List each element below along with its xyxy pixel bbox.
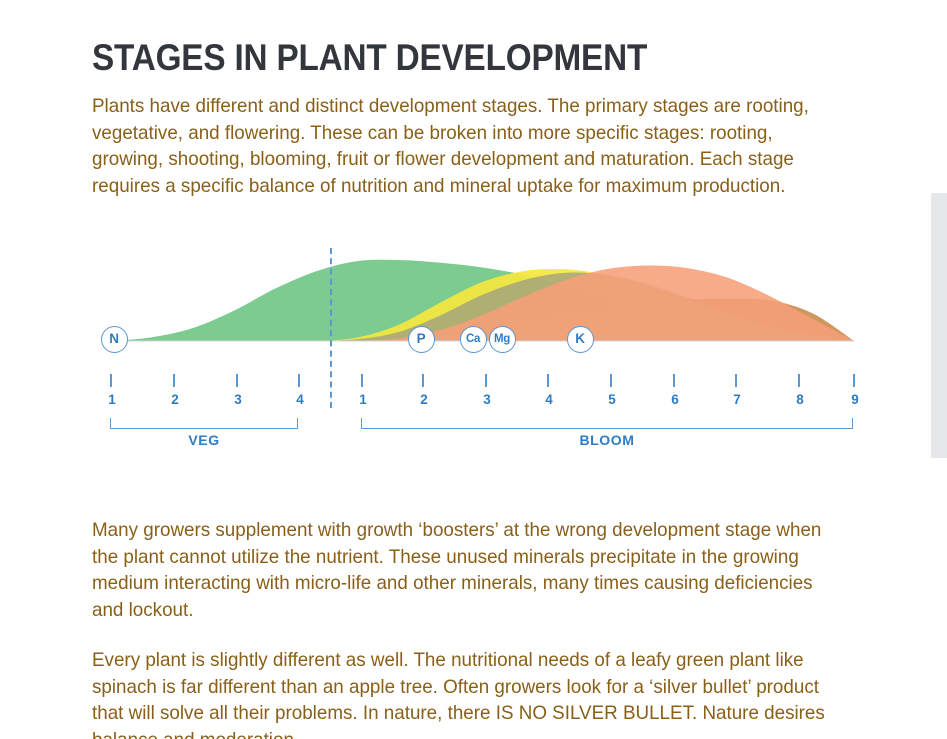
axis-tick-label-bloom-6: 6 [663, 392, 687, 407]
axis-tick-bloom-2 [422, 374, 424, 387]
axis-tick-bloom-8 [798, 374, 800, 387]
axis-tick-label-veg-4: 4 [288, 392, 312, 407]
phase-divider-dashed-line [330, 248, 332, 408]
axis-tick-veg-4 [298, 374, 300, 387]
nutrient-badge-mg[interactable]: Mg [489, 326, 516, 353]
axis-tick-label-bloom-9: 9 [843, 392, 867, 407]
page-title: STAGES IN PLANT DEVELOPMENT [92, 37, 647, 79]
every-plant-paragraph: Every plant is slightly different as wel… [92, 647, 849, 739]
phase-label-veg: VEG [188, 432, 219, 448]
axis-tick-veg-3 [236, 374, 238, 387]
nutrient-badge-n[interactable]: N [101, 326, 128, 353]
axis-tick-label-veg-2: 2 [163, 392, 187, 407]
axis-tick-label-bloom-5: 5 [600, 392, 624, 407]
intro-paragraph: Plants have different and distinct devel… [92, 93, 849, 199]
phase-bracket-bloom [361, 418, 853, 429]
axis-tick-bloom-3 [485, 374, 487, 387]
vertical-scrollbar-track[interactable] [931, 0, 947, 739]
axis-tick-label-bloom-2: 2 [412, 392, 436, 407]
phase-label-bloom: BLOOM [579, 432, 634, 448]
axis-tick-label-veg-1: 1 [100, 392, 124, 407]
axis-tick-veg-1 [110, 374, 112, 387]
phase-bracket-veg [110, 418, 298, 429]
axis-tick-bloom-1 [361, 374, 363, 387]
axis-tick-bloom-7 [735, 374, 737, 387]
axis-tick-bloom-6 [673, 374, 675, 387]
axis-tick-label-bloom-3: 3 [475, 392, 499, 407]
axis-tick-bloom-9 [853, 374, 855, 387]
axis-tick-label-bloom-4: 4 [537, 392, 561, 407]
axis-tick-bloom-5 [610, 374, 612, 387]
axis-tick-label-veg-3: 3 [226, 392, 250, 407]
axis-tick-label-bloom-1: 1 [351, 392, 375, 407]
axis-tick-veg-2 [173, 374, 175, 387]
axis-tick-label-bloom-8: 8 [788, 392, 812, 407]
axis-tick-label-bloom-7: 7 [725, 392, 749, 407]
vertical-scrollbar-thumb[interactable] [931, 193, 947, 458]
boosters-paragraph: Many growers supplement with growth ‘boo… [92, 517, 849, 623]
nutrient-badge-p[interactable]: P [408, 326, 435, 353]
nutrient-uptake-chart: NPCaMgK 1234123456789 VEGBLOOM [92, 228, 882, 460]
page-root: STAGES IN PLANT DEVELOPMENT Plants have … [0, 0, 947, 739]
axis-tick-bloom-4 [547, 374, 549, 387]
nutrient-badge-ca[interactable]: Ca [460, 326, 487, 353]
nutrient-badge-k[interactable]: K [567, 326, 594, 353]
